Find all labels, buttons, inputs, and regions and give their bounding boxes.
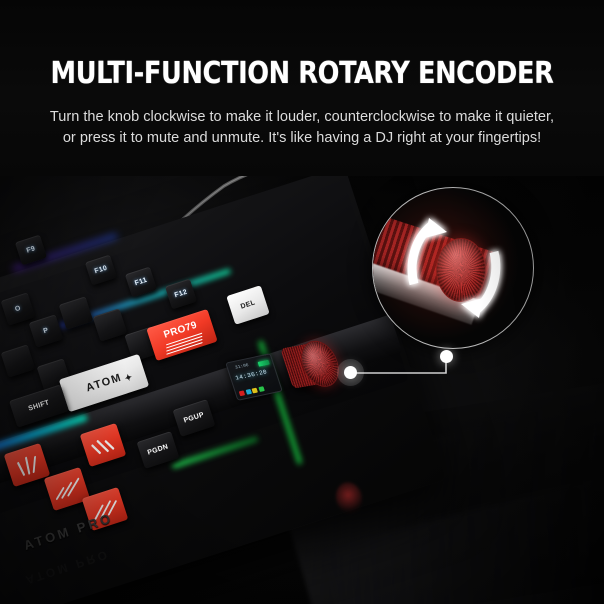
callout-dot-target — [440, 350, 453, 363]
text-banner: MULTI-FUNCTION ROTARY ENCODER Turn the k… — [0, 0, 604, 176]
product-feature-image: F9 F10 F11 F12 O P DEL PRO79 — [0, 0, 604, 604]
description-text: Turn the knob clockwise to make it loude… — [50, 106, 554, 148]
callout-dot-source — [344, 366, 357, 379]
page-title: MULTI-FUNCTION ROTARY ENCODER — [15, 58, 589, 90]
